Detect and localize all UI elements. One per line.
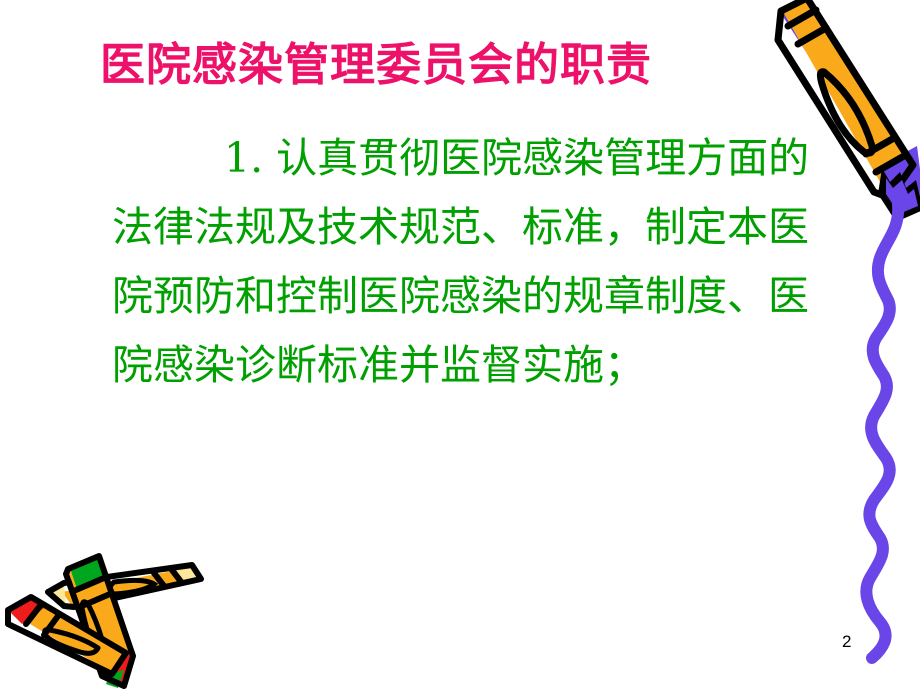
slide-body-text: 1. 认真贯彻医院感染管理方面的法律法规及技术规范、标准，制定本医院预防和控制医… bbox=[112, 124, 812, 400]
body-paragraph-1: 1. 认真贯彻医院感染管理方面的法律法规及技术规范、标准，制定本医院预防和控制医… bbox=[112, 124, 812, 400]
purple-squiggle-line-icon bbox=[846, 196, 920, 666]
slide-canvas: 医院感染管理委员会的职责 1. 认真贯彻医院感染管理方面的法律法规及技术规范、标… bbox=[0, 0, 920, 690]
page-number: 2 bbox=[842, 632, 851, 652]
slide-title: 医院感染管理委员会的职责 bbox=[100, 36, 740, 94]
crayons-bottom-left-icon bbox=[2, 548, 207, 690]
